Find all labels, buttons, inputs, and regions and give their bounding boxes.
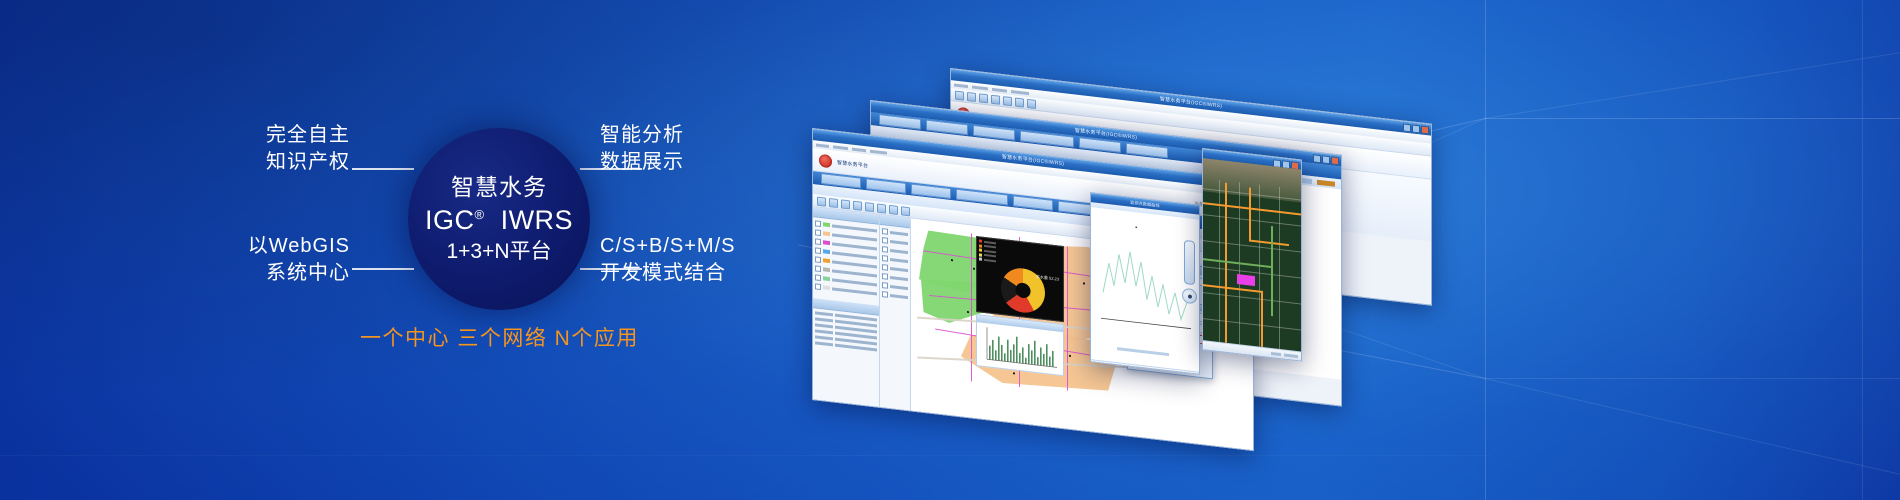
window-controls[interactable] — [1313, 154, 1339, 165]
chart-window[interactable]: 监测点数据曲线 ● — [1090, 192, 1200, 375]
checkbox-icon — [815, 265, 821, 272]
tool-icon — [955, 90, 964, 100]
label-bottom-right-line2: 开发模式结合 — [600, 260, 800, 287]
legend-item — [979, 257, 996, 262]
checkbox-icon — [815, 283, 821, 290]
street-grid — [1203, 318, 1301, 330]
attribute-list — [813, 308, 879, 355]
connector-top-left — [352, 168, 414, 170]
chart-window-title: 监测点数据曲线 — [1130, 199, 1159, 208]
circle-brand: IGC — [425, 205, 475, 235]
concept-diagram: 智慧水务 IGC® IWRS 1+3+N平台 完全自主 知识产权 智能分析 数据… — [0, 0, 790, 500]
map-node — [951, 259, 953, 261]
checkbox-icon — [815, 274, 821, 281]
select-icon — [889, 204, 898, 214]
circle-product: IWRS — [501, 205, 574, 235]
label-bottom-left: 以WebGIS 系统中心 — [170, 233, 350, 287]
checkbox-icon — [815, 238, 821, 245]
checkbox-icon — [815, 247, 821, 254]
checkbox-icon — [815, 229, 821, 236]
map-node — [967, 311, 969, 313]
chart-window-body: ● — [1091, 207, 1199, 371]
front-window-brand: 智慧水务平台 — [837, 158, 868, 169]
tool-toggle-icon — [882, 291, 888, 298]
tool-icon — [991, 94, 1000, 104]
layer-tree[interactable] — [813, 217, 879, 300]
map-node — [1083, 282, 1085, 284]
save-icon — [829, 197, 838, 207]
label-bottom-left-line2: 系统中心 — [170, 260, 350, 287]
water-drop-logo-icon — [819, 153, 832, 168]
window-controls[interactable] — [1403, 123, 1429, 134]
tree-node — [882, 291, 908, 300]
print-icon — [841, 199, 850, 209]
map-node — [973, 268, 975, 270]
tree-node — [882, 237, 908, 246]
map-node — [1013, 372, 1015, 374]
map-pipeline — [1067, 247, 1068, 391]
satellite-map-canvas[interactable] — [1203, 158, 1301, 351]
pan-icon — [877, 203, 886, 213]
histogram-panel — [976, 314, 1064, 376]
circle-line-3: 1+3+N平台 — [446, 241, 551, 262]
screenshot-stack: 智慧水务平台(IGC®IWRS) 智慧水务平台 — [790, 0, 1900, 500]
highway — [1203, 202, 1301, 215]
label-top-right: 智能分析 数据展示 — [600, 122, 790, 176]
map-tools-panel[interactable] — [880, 215, 911, 414]
chart-x-axis-label — [1117, 347, 1169, 356]
secondary-road — [1271, 226, 1273, 316]
tree-node — [882, 264, 908, 273]
registered-icon: ® — [474, 207, 484, 222]
tool-toggle-icon — [882, 273, 888, 280]
highlighted-parcel — [1237, 274, 1255, 286]
zoom-in-icon — [853, 200, 862, 210]
tree-node — [882, 273, 908, 282]
checkbox-icon — [815, 256, 821, 263]
tool-toggle-icon — [882, 255, 888, 262]
label-top-left-line2: 知识产权 — [180, 149, 350, 176]
chart-series-label: ● — [1135, 224, 1137, 229]
close-icon — [1331, 156, 1339, 165]
tool-icon — [967, 91, 976, 101]
checkbox-icon — [815, 220, 821, 227]
highway — [1249, 239, 1289, 246]
circle-line-2: IGC® IWRS — [425, 207, 573, 234]
label-bottom-right: C/S+B/S+M/S 开发模式结合 — [600, 233, 800, 287]
timeseries-chart — [1091, 221, 1199, 343]
analytics-donut-panel: 供水量 52.23 — [976, 236, 1064, 322]
tree-node — [882, 282, 908, 291]
map-zoom-slider[interactable] — [1184, 240, 1195, 285]
label-top-left: 完全自主 知识产权 — [180, 122, 350, 176]
connector-bottom-left — [352, 268, 414, 270]
tree-node — [882, 228, 908, 237]
circle-line-1: 智慧水务 — [451, 176, 547, 199]
satellite-window[interactable] — [1202, 148, 1302, 362]
label-top-right-line1: 智能分析 — [600, 122, 790, 149]
tool-icon — [1015, 97, 1024, 107]
secondary-road — [1203, 258, 1273, 268]
center-circle: 智慧水务 IGC® IWRS 1+3+N平台 — [408, 128, 590, 310]
hero-banner: 智慧水务 IGC® IWRS 1+3+N平台 完全自主 知识产权 智能分析 数据… — [0, 0, 1900, 500]
layer-tree-panel[interactable] — [813, 207, 880, 410]
label-bottom-right-line1: C/S+B/S+M/S — [600, 233, 800, 260]
tool-icon — [1003, 96, 1012, 106]
histogram-chart — [977, 322, 1063, 372]
measure-icon — [901, 206, 910, 216]
donut-legend — [979, 239, 996, 262]
map-tool-list[interactable] — [880, 225, 910, 303]
zoom-out-icon — [865, 202, 874, 212]
street-grid — [1203, 292, 1301, 304]
tree-node — [882, 246, 908, 255]
tool-icon — [1027, 98, 1036, 108]
street-grid — [1203, 214, 1301, 226]
tool-icon — [979, 93, 988, 103]
map-node — [1069, 355, 1071, 357]
open-icon — [817, 196, 826, 206]
tool-toggle-icon — [882, 282, 888, 289]
tool-toggle-icon — [882, 246, 888, 253]
label-bottom-left-line1: 以WebGIS — [170, 233, 350, 260]
tool-toggle-icon — [882, 228, 888, 235]
label-top-right-line2: 数据展示 — [600, 149, 790, 176]
highway — [1249, 187, 1251, 241]
street-grid — [1203, 240, 1301, 252]
highway — [1261, 291, 1263, 347]
label-top-left-line1: 完全自主 — [180, 122, 350, 149]
tree-node — [882, 255, 908, 264]
close-icon — [1421, 125, 1429, 134]
tagline: 一个中心 三个网络 N个应用 — [360, 322, 780, 352]
tool-toggle-icon — [882, 264, 888, 271]
tool-toggle-icon — [882, 237, 888, 244]
